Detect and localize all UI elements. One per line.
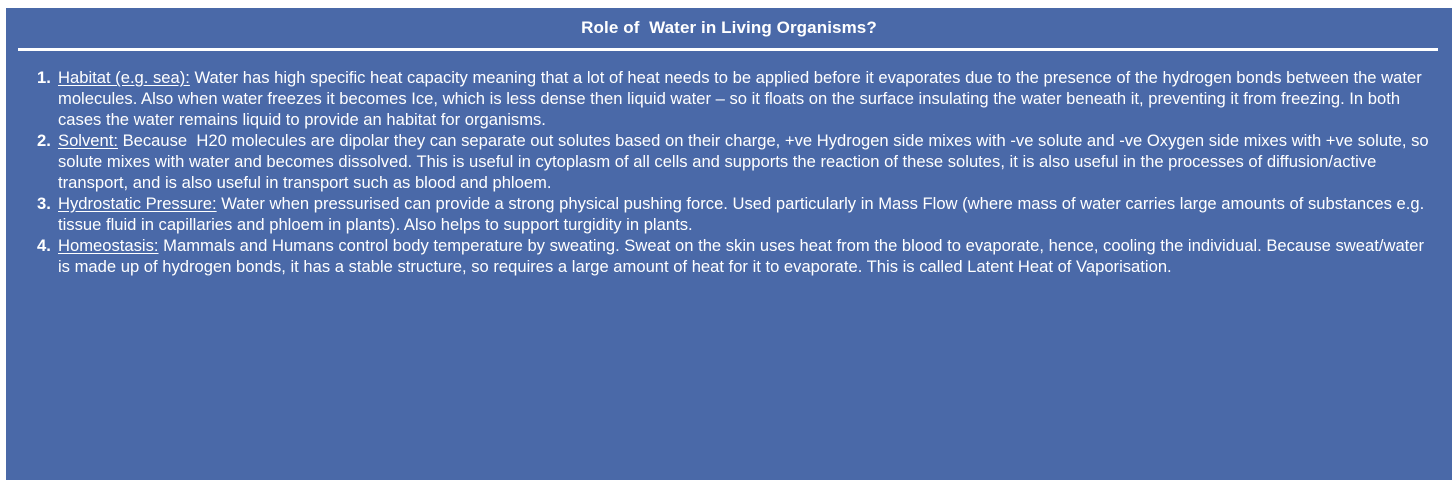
list-item: Hydrostatic Pressure: Water when pressur… xyxy=(58,194,1438,236)
slide-canvas: Role of Water in Living Organisms? Habit… xyxy=(6,8,1452,480)
title-divider xyxy=(18,48,1438,51)
point-text: Water when pressurised can provide a str… xyxy=(58,194,1429,234)
point-label: Homeostasis: xyxy=(58,236,159,255)
point-label: Hydrostatic Pressure: xyxy=(58,194,217,213)
point-label: Habitat (e.g. sea): xyxy=(58,68,190,87)
point-text: Mammals and Humans control body temperat… xyxy=(58,236,1429,276)
point-label: Solvent: xyxy=(58,131,118,150)
point-text: Water has high specific heat capacity me… xyxy=(58,68,1426,129)
list-item: Homeostasis: Mammals and Humans control … xyxy=(58,236,1438,278)
numbered-point-list: Habitat (e.g. sea): Water has high speci… xyxy=(6,68,1452,278)
list-item: Habitat (e.g. sea): Water has high speci… xyxy=(58,68,1438,130)
page-title: Role of Water in Living Organisms? xyxy=(6,8,1452,38)
slide-title-bar: Role of Water in Living Organisms? xyxy=(6,8,1452,38)
list-item: Solvent: Because H20 molecules are dipol… xyxy=(58,131,1438,193)
point-text: Because H20 molecules are dipolar they c… xyxy=(58,131,1433,192)
